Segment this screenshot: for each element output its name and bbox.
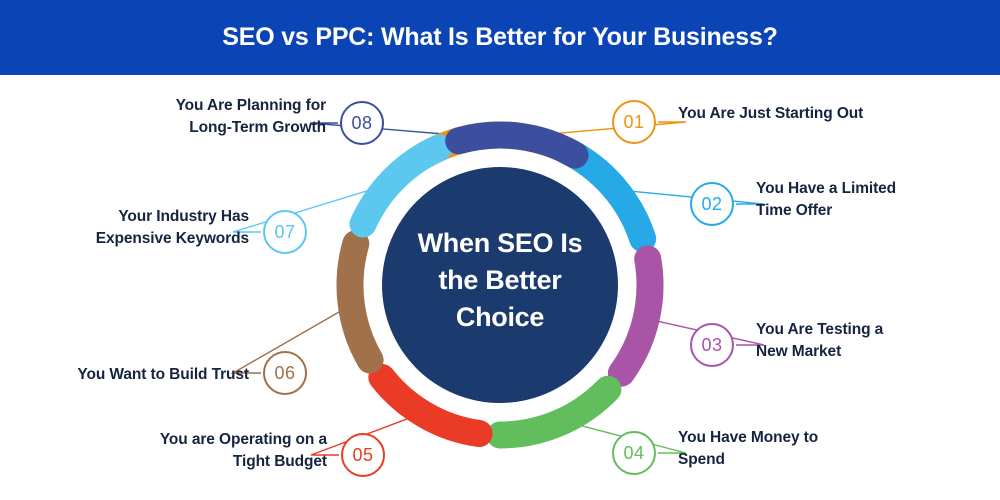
node-label-line1: You Are Testing a [756, 319, 992, 341]
node-label-01: You Are Just Starting Out [678, 103, 992, 125]
node-label-line2: New Market [756, 341, 992, 363]
node-label-07: Your Industry HasExpensive Keywords [0, 206, 249, 250]
badge-07[interactable]: 07 [263, 210, 307, 254]
badge-08[interactable]: 08 [340, 101, 384, 145]
node-label-line2: Expensive Keywords [0, 228, 249, 250]
node-label-line1: You Are Planning for [0, 95, 326, 117]
center-circle [382, 167, 618, 403]
badge-01[interactable]: 01 [612, 100, 656, 144]
node-label-line2: Time Offer [756, 200, 992, 222]
node-label-06: You Want to Build Trust [0, 364, 249, 386]
wheel-diagram [0, 0, 1000, 500]
badge-06[interactable]: 06 [263, 351, 307, 395]
arc-segment-03 [621, 259, 650, 373]
node-label-line2: Spend [678, 449, 992, 471]
badge-04[interactable]: 04 [612, 431, 656, 475]
node-label-05: You are Operating on aTight Budget [0, 429, 327, 473]
arc-segment-06 [350, 244, 370, 360]
node-label-line1: You are Operating on a [0, 429, 327, 451]
node-label-02: You Have a LimitedTime Offer [756, 178, 992, 222]
badge-02[interactable]: 02 [690, 182, 734, 226]
node-label-03: You Are Testing aNew Market [756, 319, 992, 363]
node-label-line2: Tight Budget [0, 451, 327, 473]
infographic-canvas: SEO vs PPC: What Is Better for Your Busi… [0, 0, 1000, 500]
node-label-04: You Have Money toSpend [678, 427, 992, 471]
badge-03[interactable]: 03 [690, 323, 734, 367]
node-label-line1: You Have Money to [678, 427, 992, 449]
node-label-line1: You Have a Limited [756, 178, 992, 200]
node-label-line1: You Want to Build Trust [0, 364, 249, 386]
node-label-line1: Your Industry Has [0, 206, 249, 228]
node-label-line2: Long-Term Growth [0, 117, 326, 139]
node-label-line1: You Are Just Starting Out [678, 103, 992, 125]
node-label-08: You Are Planning forLong-Term Growth [0, 95, 326, 139]
arc-segment-08 [459, 135, 575, 155]
badge-05[interactable]: 05 [341, 433, 385, 477]
